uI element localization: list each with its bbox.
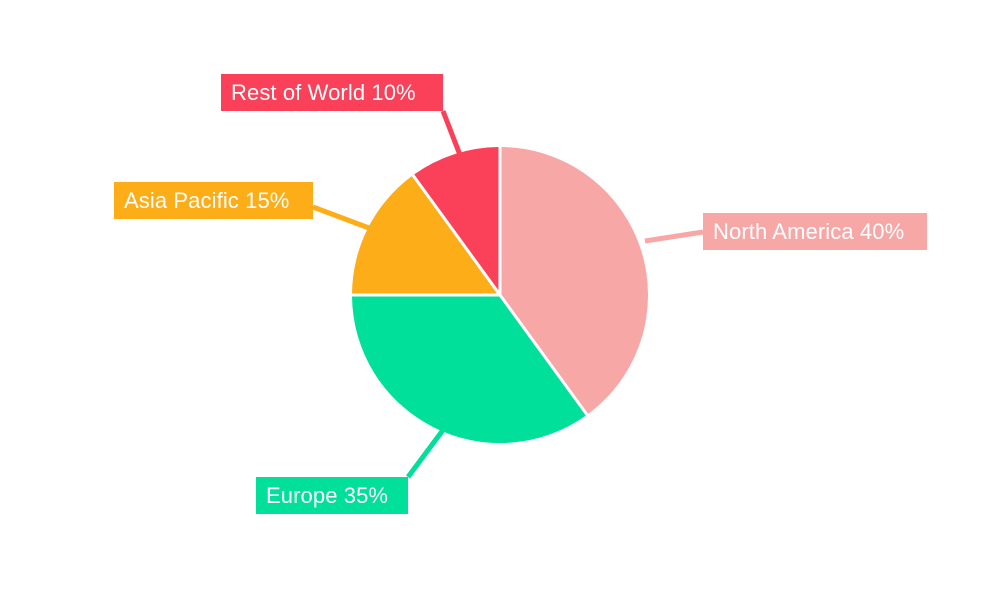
pie-label-europe[interactable]: Europe 35%: [256, 477, 408, 514]
leader-line-asia-pacific: [313, 207, 369, 228]
leader-line-rest-of-world: [443, 111, 460, 155]
pie-label-north-america[interactable]: North America 40%: [703, 213, 927, 250]
pie-chart-canvas: [0, 0, 1000, 600]
pie-chart-figure: North America 40% Europe 35% Asia Pacifi…: [0, 0, 1000, 600]
leader-line-europe: [408, 430, 443, 477]
pie-label-rest-of-world[interactable]: Rest of World 10%: [221, 74, 443, 111]
pie-slices: [352, 147, 648, 443]
pie-label-text: Rest of World 10%: [231, 82, 416, 104]
pie-label-text: Asia Pacific 15%: [124, 190, 289, 212]
pie-label-text: Europe 35%: [266, 485, 388, 507]
pie-label-text: North America 40%: [713, 221, 904, 243]
pie-label-asia-pacific[interactable]: Asia Pacific 15%: [114, 182, 313, 219]
leader-line-north-america: [645, 232, 703, 241]
